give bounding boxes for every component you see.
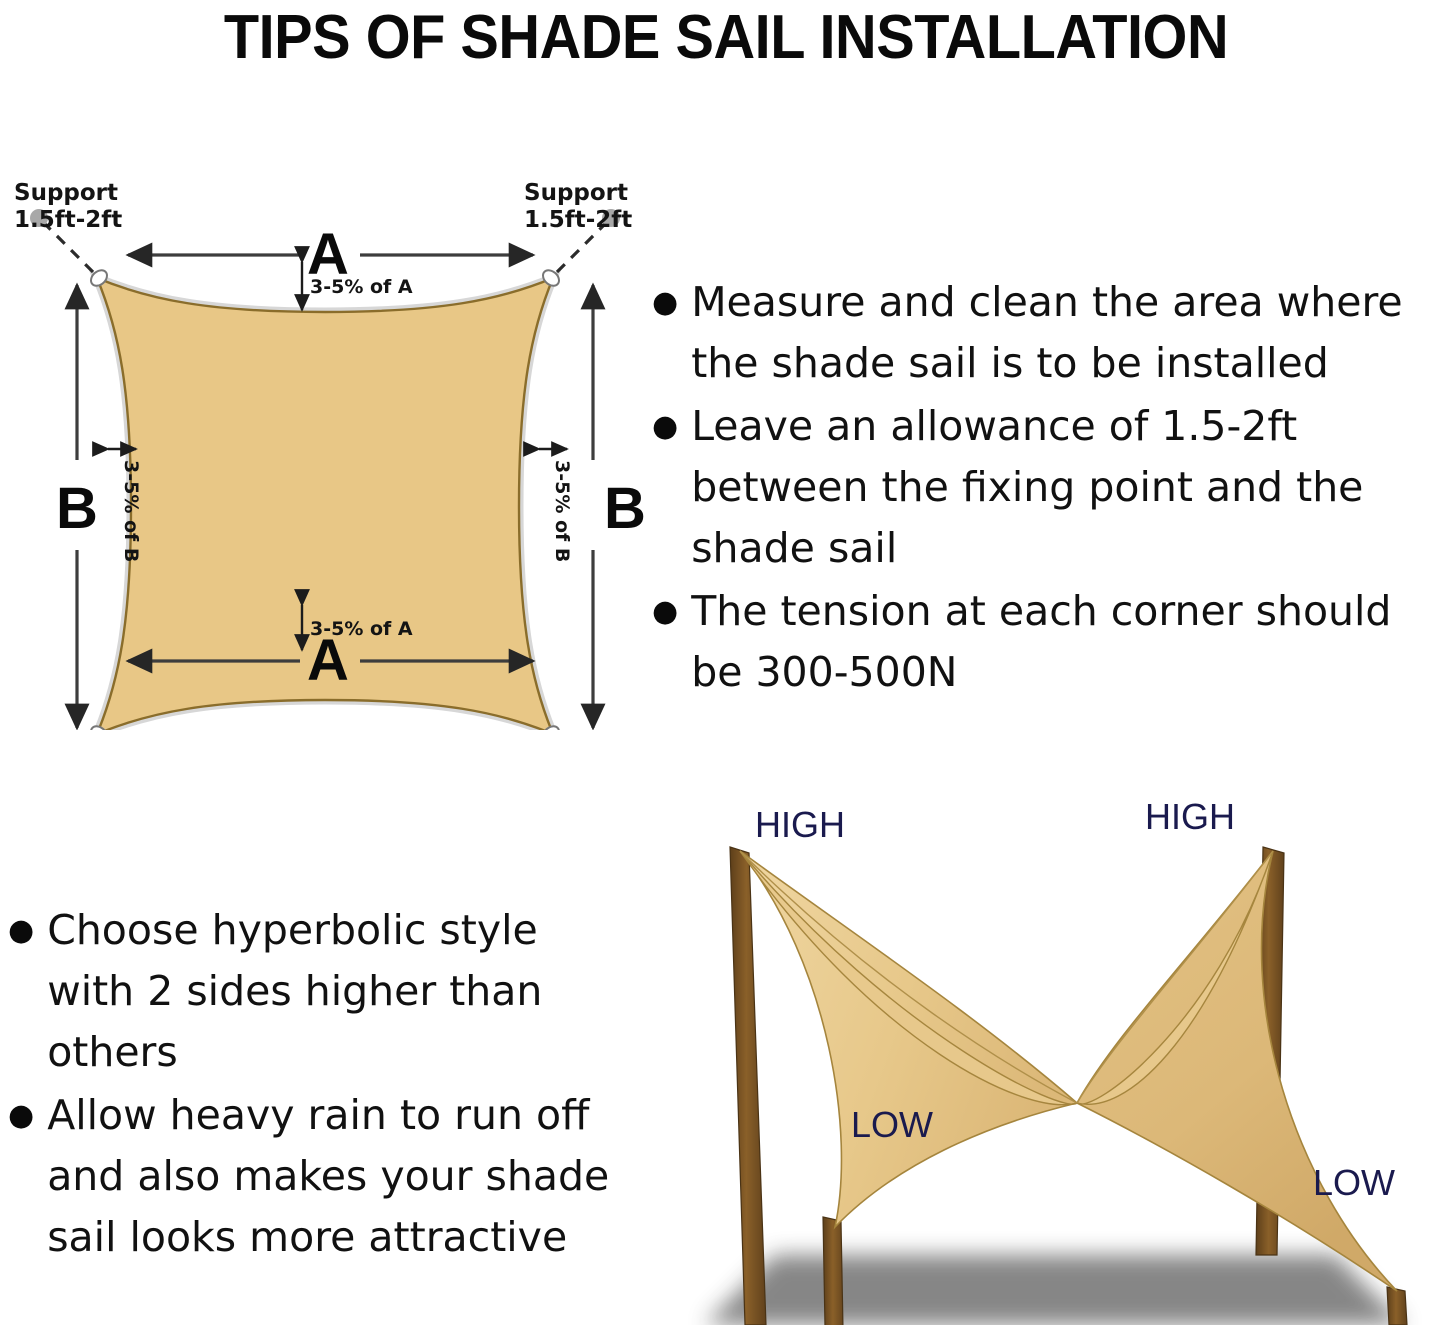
post-right-low bbox=[1387, 1287, 1407, 1325]
sail-lobe-right bbox=[1077, 851, 1397, 1291]
support-label-top-left-value: 1.5ft-2ft bbox=[14, 207, 122, 233]
list-item-text: Measure and clean the area where the sha… bbox=[691, 272, 1452, 394]
callout-right-curve: 3-5% of B bbox=[539, 449, 573, 562]
support-label-top-right-title: Support bbox=[524, 180, 628, 206]
callout-left-curve: 3-5% of B bbox=[108, 449, 142, 562]
post-front-low bbox=[823, 1217, 845, 1325]
list-item: ● Allow heavy rain to run off and also m… bbox=[8, 1085, 628, 1268]
callout-right-curve-label: 3-5% of B bbox=[551, 460, 573, 562]
ground-shadow bbox=[705, 1255, 1405, 1325]
label-low-front: LOW bbox=[851, 1104, 933, 1145]
infographic-page: TIPS OF SHADE SAIL INSTALLATION bbox=[0, 0, 1452, 1325]
label-high-left: HIGH bbox=[755, 804, 845, 845]
label-low-right: LOW bbox=[1313, 1162, 1395, 1203]
support-label-top-left-title: Support bbox=[14, 180, 118, 206]
dimension-right-B: B bbox=[593, 285, 646, 728]
callout-top-curve-label: 3-5% of A bbox=[310, 276, 413, 298]
callout-left-curve-label: 3-5% of B bbox=[120, 460, 142, 562]
support-label-top-right-value: 1.5ft-2ft bbox=[524, 207, 632, 233]
hyperbolic-sail-diagram: HIGH HIGH LOW LOW bbox=[645, 785, 1452, 1325]
bullet-dot-icon: ● bbox=[8, 900, 34, 962]
list-item-text: Choose hyperbolic style with 2 sides hig… bbox=[47, 900, 628, 1083]
list-item: ● Measure and clean the area where the s… bbox=[652, 272, 1452, 394]
dim-right-B-label: B bbox=[604, 476, 646, 541]
tips-list-installation: ● Measure and clean the area where the s… bbox=[652, 272, 1452, 705]
label-high-right: HIGH bbox=[1145, 796, 1235, 837]
list-item-text: Leave an allowance of 1.5-2ft between th… bbox=[691, 396, 1452, 579]
post-left-high bbox=[730, 847, 766, 1325]
list-item-text: The tension at each corner should be 300… bbox=[691, 581, 1452, 703]
callout-bottom-curve-label: 3-5% of A bbox=[310, 618, 413, 640]
bullet-dot-icon: ● bbox=[652, 581, 678, 643]
page-title: TIPS OF SHADE SAIL INSTALLATION bbox=[51, 2, 1401, 73]
list-item: ● Leave an allowance of 1.5-2ft between … bbox=[652, 396, 1452, 579]
list-item: ● Choose hyperbolic style with 2 sides h… bbox=[8, 900, 628, 1083]
list-item-text: Allow heavy rain to run off and also mak… bbox=[47, 1085, 628, 1268]
bullet-dot-icon: ● bbox=[652, 272, 678, 334]
tips-list-hyperbolic: ● Choose hyperbolic style with 2 sides h… bbox=[8, 900, 628, 1270]
dimension-left-B: B bbox=[56, 285, 98, 728]
dim-left-B-label: B bbox=[56, 476, 98, 541]
rectangular-sail-diagram: Support 1.5ft-2ft Support 1.5ft-2ft Supp… bbox=[0, 150, 650, 730]
bullet-dot-icon: ● bbox=[8, 1085, 34, 1147]
list-item: ● The tension at each corner should be 3… bbox=[652, 581, 1452, 703]
bullet-dot-icon: ● bbox=[652, 396, 678, 458]
